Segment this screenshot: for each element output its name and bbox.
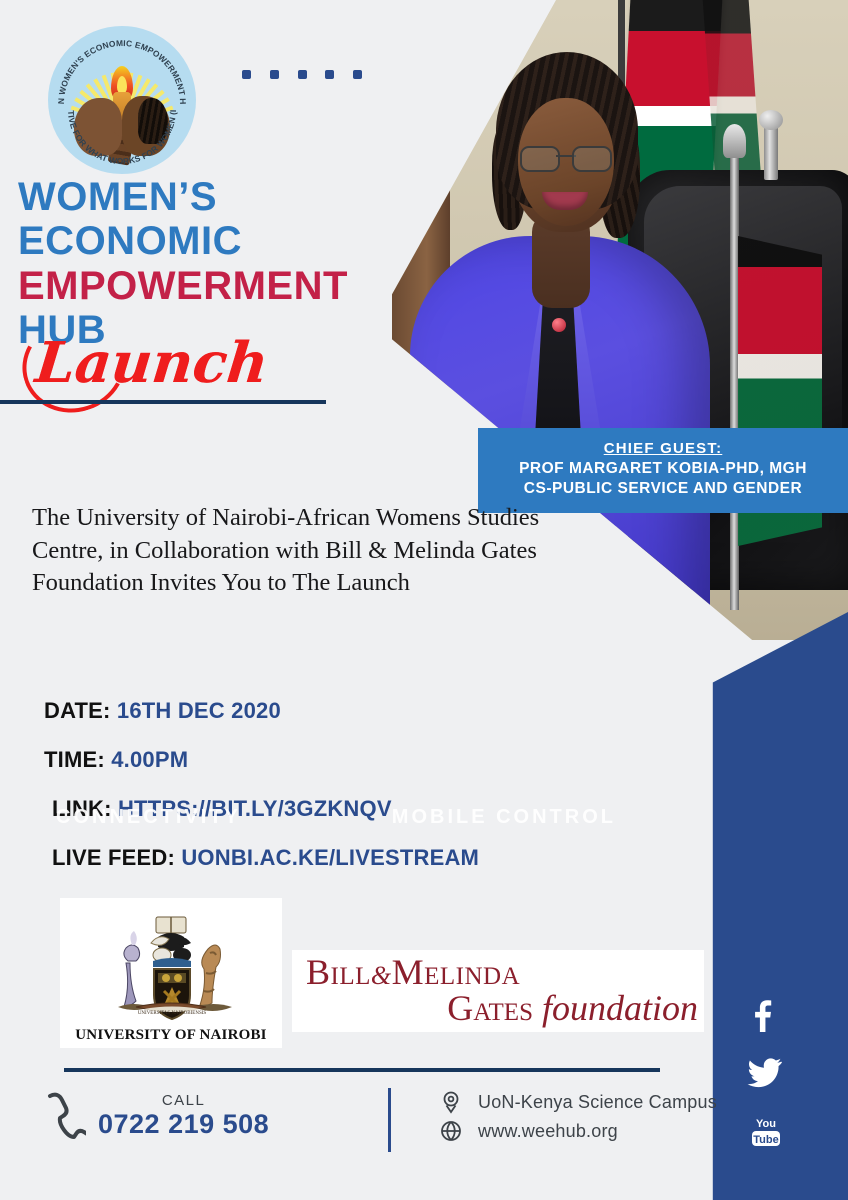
- svg-text:Tube: Tube: [753, 1134, 778, 1146]
- contact-block: UoN-Kenya Science Campus www.weehub.org: [440, 1090, 740, 1148]
- gates-gates: Gates: [447, 988, 533, 1028]
- invitation-paragraph: The University of Nairobi-African Womens…: [32, 502, 552, 600]
- twitter-icon[interactable]: [746, 1058, 826, 1088]
- eyeglasses-icon: [520, 146, 612, 170]
- footer-vertical-divider: [388, 1088, 391, 1152]
- chief-guest-name: PROF MARGARET KOBIA-PHD, MGH: [488, 459, 838, 479]
- logo-arc-top-text: UON WOMEN'S ECONOMIC EMPOWERMENT HUB: [48, 26, 188, 105]
- address-text: UoN-Kenya Science Campus: [478, 1092, 717, 1113]
- university-of-nairobi-logo: UNIVERSITAS NAIROBIENSIS UNIVERSITY OF N…: [60, 898, 282, 1048]
- gates-foundation-logo: Bill&Melinda Gates foundation: [292, 950, 704, 1032]
- uon-caption: UNIVERSITY OF NAIROBI: [75, 1027, 266, 1044]
- dot: [242, 70, 251, 79]
- phone-icon: [40, 1090, 86, 1142]
- chief-guest-banner: CHIEF GUEST: PROF MARGARET KOBIA-PHD, MG…: [478, 428, 848, 513]
- weehub-logo: UON WOMEN'S ECONOMIC EMPOWERMENT HUB INI…: [48, 26, 196, 174]
- footer-divider: [64, 1068, 660, 1072]
- svg-text:UNIVERSITAS NAIROBIENSIS: UNIVERSITAS NAIROBIENSIS: [138, 1011, 207, 1016]
- title-line-2: ECONOMIC: [18, 222, 418, 260]
- call-text: CALL 0722 219 508: [98, 1092, 269, 1140]
- facebook-icon[interactable]: [746, 1000, 826, 1032]
- dot: [298, 70, 307, 79]
- call-label: CALL: [162, 1092, 206, 1109]
- chief-guest-title: CHIEF GUEST:: [488, 439, 838, 459]
- event-details: DATE: 16TH DEC 2020 TIME: 4.00PM LINK: H…: [44, 698, 604, 894]
- detail-row-link[interactable]: LINK: HTTPS://BIT.LY/3GZKNQV: [44, 796, 604, 822]
- title-divider: [0, 400, 326, 404]
- gates-ampersand: &: [371, 961, 392, 990]
- poster-canvas: CHIEF GUEST: PROF MARGARET KOBIA-PHD, MG…: [0, 0, 848, 1200]
- detail-label: LIVE FEED:: [52, 845, 175, 870]
- detail-row-time: TIME: 4.00PM: [44, 747, 604, 773]
- detail-value: 16TH DEC 2020: [117, 698, 281, 723]
- gates-logo-line-1: Bill&Melinda: [292, 954, 704, 990]
- detail-value: 4.00PM: [111, 747, 188, 772]
- chief-guest-role: CS-PUBLIC SERVICE AND GENDER: [488, 479, 838, 499]
- globe-icon: [440, 1120, 462, 1142]
- website-row[interactable]: www.weehub.org: [440, 1120, 740, 1142]
- title-script-launch: Launch: [33, 330, 272, 396]
- logo-curved-text: UON WOMEN'S ECONOMIC EMPOWERMENT HUB INI…: [48, 26, 196, 174]
- svg-text:You: You: [756, 1118, 776, 1130]
- gates-foundation-word: foundation: [542, 988, 698, 1028]
- address-row: UoN-Kenya Science Campus: [440, 1090, 740, 1114]
- detail-value[interactable]: HTTPS://BIT.LY/3GZKNQV: [118, 796, 392, 821]
- youtube-icon[interactable]: You Tube: [746, 1114, 826, 1150]
- call-block: CALL 0722 219 508: [40, 1090, 300, 1142]
- dot: [325, 70, 334, 79]
- poster-footer: CALL 0722 219 508 UoN-Kenya Science Camp…: [36, 1086, 696, 1166]
- detail-label: LINK:: [52, 796, 112, 821]
- detail-label: TIME:: [44, 747, 105, 772]
- gates-bill: Bill: [306, 952, 371, 992]
- detail-label: DATE:: [44, 698, 111, 723]
- dot-decoration: [242, 70, 362, 79]
- photo-finial: [764, 120, 778, 180]
- dot: [270, 70, 279, 79]
- dot: [353, 70, 362, 79]
- detail-value[interactable]: UONBI.AC.KE/LIVESTREAM: [181, 845, 479, 870]
- location-pin-icon: [440, 1090, 462, 1114]
- detail-row-date: DATE: 16TH DEC 2020: [44, 698, 604, 724]
- social-links: You Tube: [746, 1000, 826, 1176]
- photo-standing-flagpole: [730, 150, 739, 610]
- gates-melinda: Melinda: [392, 952, 521, 992]
- gates-logo-line-2: Gates foundation: [292, 990, 704, 1028]
- uon-coat-of-arms-icon: UNIVERSITAS NAIROBIENSIS: [96, 915, 246, 1027]
- title-line-3: EMPOWERMENT: [18, 267, 418, 305]
- detail-row-live-feed[interactable]: LIVE FEED: UONBI.AC.KE/LIVESTREAM: [44, 845, 604, 871]
- title-line-1: WOMEN’S: [18, 178, 418, 216]
- website-text[interactable]: www.weehub.org: [478, 1121, 618, 1142]
- photo-brooch: [552, 318, 566, 332]
- phone-number[interactable]: 0722 219 508: [98, 1109, 269, 1140]
